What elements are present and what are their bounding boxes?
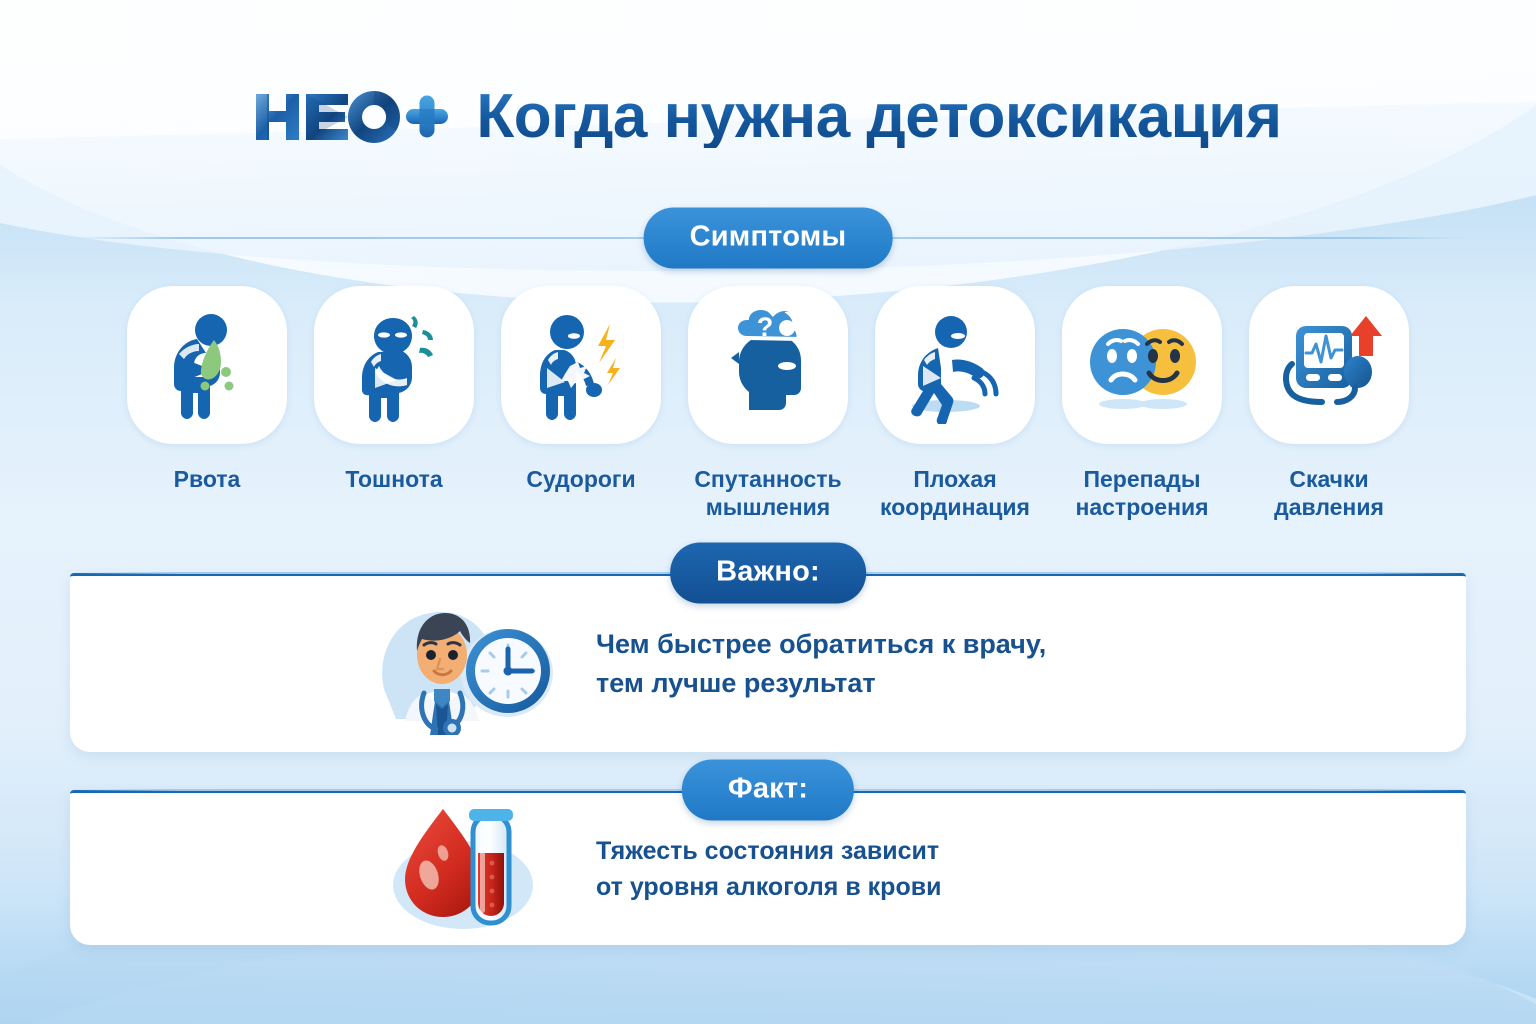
symptom-label: Перепады настроения <box>1075 465 1208 521</box>
brand-logo <box>254 88 450 146</box>
important-badge: Важно: <box>670 543 866 604</box>
blood-drop-test-tube-icon <box>387 801 547 937</box>
symptom-label: Спутанность мышления <box>694 465 841 521</box>
vomiting-person-icon <box>148 306 266 424</box>
important-card-content: Чем быстрее обратиться к врачу, тем лучш… <box>70 593 1046 735</box>
important-card-text: Чем быстрее обратиться к врачу, тем лучш… <box>596 625 1046 703</box>
blood-pressure-monitor-icon <box>1270 306 1388 424</box>
symptom-tile <box>1249 286 1409 444</box>
symptom-item-confusion[interactable]: ? Спутанность мышления <box>679 286 857 521</box>
fact-card-text: Тяжесть состояния зависит от уровня алко… <box>596 833 941 906</box>
symptom-tile <box>875 286 1035 444</box>
symptom-label: Тошнота <box>345 465 442 493</box>
infographic-poster: Когда нужна детоксикация Симптомы <box>0 0 1536 1024</box>
symptoms-badge: Симптомы <box>644 208 893 269</box>
symptom-item-blood-pressure[interactable]: Скачки давления <box>1240 286 1418 521</box>
cramps-person-icon <box>522 306 640 424</box>
important-card-art <box>372 593 562 735</box>
symptom-label: Судороги <box>526 465 635 493</box>
background-top-sweep <box>0 0 1536 331</box>
confused-head-icon: ? <box>709 306 827 424</box>
fact-card-content: Тяжесть состояния зависит от уровня алко… <box>70 801 941 937</box>
nauseated-person-icon <box>335 306 453 424</box>
symptom-label: Скачки давления <box>1274 465 1384 521</box>
symptom-tile <box>314 286 474 444</box>
symptoms-list: Рвота <box>118 286 1418 521</box>
symptom-label: Рвота <box>174 465 241 493</box>
symptom-item-vomiting[interactable]: Рвота <box>118 286 296 493</box>
mood-swings-faces-icon <box>1083 306 1201 424</box>
symptom-item-nausea[interactable]: Тошнота <box>305 286 483 493</box>
symptom-item-mood-swings[interactable]: Перепады настроения <box>1053 286 1231 521</box>
fact-badge: Факт: <box>682 760 854 821</box>
fact-card-art <box>372 801 562 937</box>
poster-header: Когда нужна детоксикация <box>0 72 1536 162</box>
symptom-item-cramps[interactable]: Судороги <box>492 286 670 493</box>
symptom-tile: ? <box>688 286 848 444</box>
symptoms-section-header: Симптомы <box>70 210 1466 266</box>
symptom-tile <box>501 286 661 444</box>
svg-text:?: ? <box>757 312 774 342</box>
symptom-item-coordination[interactable]: Плохая координация <box>866 286 1044 521</box>
important-section-header: Важно: <box>70 545 1466 601</box>
symptom-tile <box>1062 286 1222 444</box>
page-title: Когда нужна детоксикация <box>476 86 1281 148</box>
symptom-label: Плохая координация <box>880 465 1030 521</box>
symptom-tile <box>127 286 287 444</box>
poor-coordination-icon <box>896 306 1014 424</box>
fact-section-header: Факт: <box>70 762 1466 818</box>
doctor-with-clock-icon <box>372 593 562 735</box>
